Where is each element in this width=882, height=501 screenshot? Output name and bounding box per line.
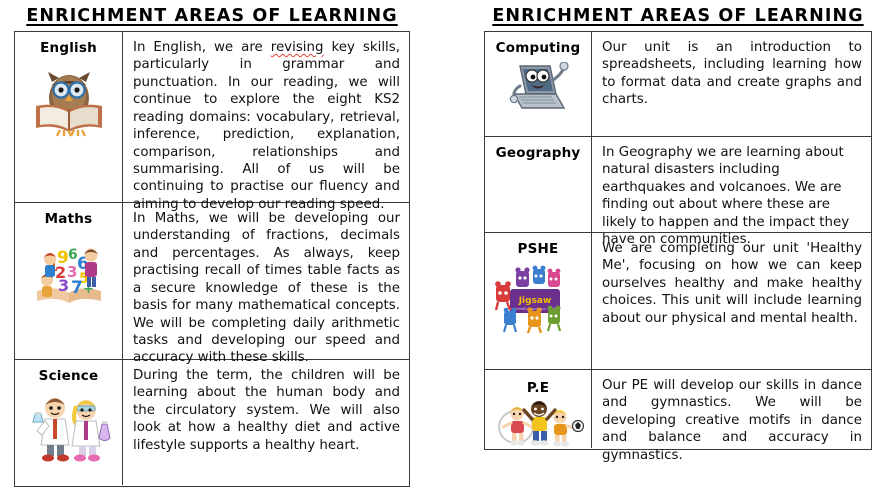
table-row: English: [15, 32, 409, 203]
table-row: Geography In Geography we are learning a…: [485, 137, 871, 233]
subject-description: During the term, the children will be le…: [123, 360, 409, 485]
subject-label: PSHE: [518, 242, 559, 257]
jigsaw-characters-icon: Jigsaw the mindful approach to PSHE: [490, 263, 586, 335]
subject-label: Geography: [496, 146, 581, 161]
cartoon-laptop-icon: [506, 62, 570, 120]
owl-reading-book-icon: [26, 62, 112, 142]
page-title-right: ENRICHMENT AREAS OF LEARNING: [484, 6, 872, 26]
subject-cell-pe: P.E: [485, 370, 592, 448]
table-row: Maths 9 6 6 2 3 5 3 7: [15, 203, 409, 360]
subject-label: Maths: [45, 212, 93, 227]
three-children-sports-icon: [492, 393, 584, 449]
subject-label: English: [40, 41, 97, 56]
svg-text:3: 3: [58, 276, 69, 295]
table-row: Computing: [485, 32, 871, 137]
subject-description: In English, we are revising key skills, …: [123, 32, 409, 202]
misspelled-word: revising: [271, 40, 324, 55]
subject-description: Our unit is an introduction to spreadshe…: [592, 32, 871, 136]
subject-cell-english: English: [15, 32, 123, 202]
table-row: Science: [15, 360, 409, 485]
page-title-left: ENRICHMENT AREAS OF LEARNING: [14, 6, 410, 26]
table-row: PSHE Jigsaw the mindful approach to PSHE: [485, 233, 871, 370]
enrichment-table-right: Computing: [484, 31, 872, 450]
table-row: P.E: [485, 370, 871, 448]
subject-cell-geography: Geography: [485, 137, 592, 232]
svg-text:Jigsaw: Jigsaw: [518, 296, 552, 306]
subject-cell-science: Science: [15, 360, 123, 485]
subject-label: Science: [39, 369, 99, 384]
subject-label: Computing: [496, 41, 581, 56]
subject-cell-maths: Maths 9 6 6 2 3 5 3 7: [15, 203, 123, 359]
worksheet-page: ENRICHMENT AREAS OF LEARNING English: [0, 0, 882, 501]
subject-description: In Maths, we will be developing our unde…: [123, 203, 409, 359]
two-child-scientists-icon: [23, 390, 115, 462]
text-segment: key skills, particularly in grammar and …: [133, 40, 400, 212]
subject-cell-computing: Computing: [485, 32, 592, 136]
subject-description: Our PE will develop our skills in dance …: [592, 370, 871, 448]
text-segment: In English, we are: [133, 40, 271, 55]
subject-description: We are completing our unit 'Healthy Me',…: [592, 233, 871, 369]
subject-cell-pshe: PSHE Jigsaw the mindful approach to PSHE: [485, 233, 592, 369]
enrichment-table-left: English: [14, 31, 410, 487]
subject-description: In Geography we are learning about natur…: [592, 137, 871, 232]
svg-text:7: 7: [71, 278, 83, 298]
colourful-numbers-children-icon: 9 6 6 2 3 5 3 7 × 1 +: [25, 233, 113, 311]
